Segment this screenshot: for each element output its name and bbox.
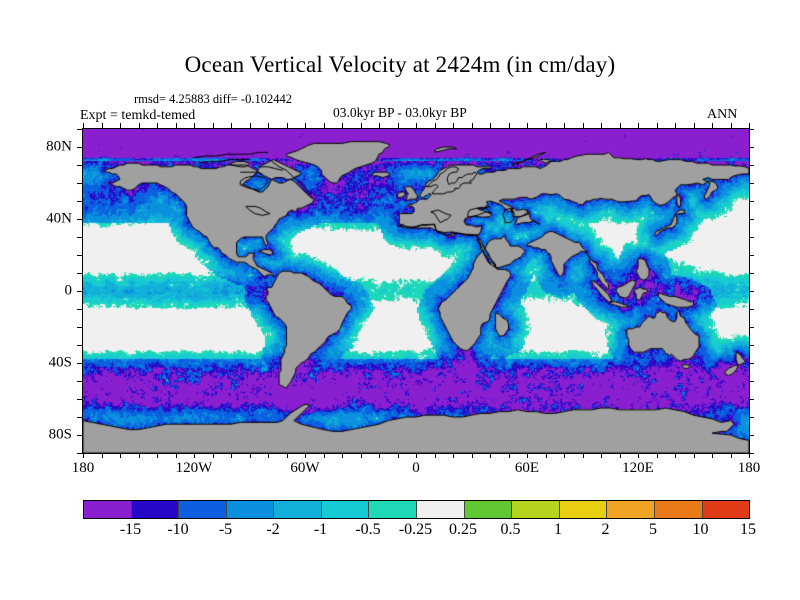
x-tick-top (527, 123, 528, 128)
x-tick (231, 453, 232, 458)
colorbar-label-5: -0.5 (355, 521, 380, 539)
rmsd-annotation: rmsd= 4.25883 diff= -0.102442 (134, 92, 292, 107)
x-tick (453, 453, 454, 458)
x-tick-top (453, 123, 454, 128)
x-tick (712, 453, 713, 458)
colorbar-band-0 (84, 501, 132, 518)
colorbar-band-6 (369, 501, 417, 518)
colorbar-band-13 (703, 501, 750, 518)
ocean-vertical-velocity-heatmap (83, 129, 749, 453)
x-tick (305, 453, 306, 458)
x-tick-top (583, 123, 584, 128)
x-tick-top (157, 123, 158, 128)
y-axis-label-2: 0 (20, 283, 72, 300)
x-tick (731, 453, 732, 458)
y-tick-right (749, 237, 754, 238)
colorbar-label-10: 2 (602, 521, 610, 539)
colorbar-label-2: -5 (219, 521, 232, 539)
x-tick (620, 453, 621, 458)
x-tick (694, 453, 695, 458)
x-tick-top (731, 123, 732, 128)
x-tick (361, 453, 362, 458)
x-tick-top (712, 123, 713, 128)
y-axis-label-4: 80S (20, 426, 72, 443)
x-tick-top (213, 123, 214, 128)
x-tick-top (490, 123, 491, 128)
y-tick-right (749, 381, 754, 382)
x-tick (268, 453, 269, 458)
y-tick (77, 309, 82, 310)
x-tick (120, 453, 121, 458)
season-annotation: ANN (707, 107, 737, 123)
x-tick-top (694, 123, 695, 128)
y-tick (77, 201, 82, 202)
colorbar-band-5 (322, 501, 370, 518)
y-tick (77, 453, 82, 454)
x-tick (157, 453, 158, 458)
y-tick-right (749, 345, 754, 346)
colorbar-label-7: 0.25 (449, 521, 477, 539)
x-tick (102, 453, 103, 458)
x-tick-top (139, 123, 140, 128)
y-tick (77, 381, 82, 382)
page-title: Ocean Vertical Velocity at 2424m (in cm/… (0, 52, 800, 78)
y-tick (77, 183, 82, 184)
x-tick (601, 453, 602, 458)
x-tick-top (435, 123, 436, 128)
x-tick-top (657, 123, 658, 128)
colorbar-label-0: -15 (120, 521, 141, 539)
y-axis-label-1: 40N (20, 210, 72, 227)
x-tick-top (546, 123, 547, 128)
colorbar-band-1 (132, 501, 180, 518)
y-tick-right (749, 201, 754, 202)
y-tick (77, 399, 82, 400)
colorbar-label-13: 15 (740, 521, 756, 539)
y-tick-right (749, 129, 754, 130)
x-tick (139, 453, 140, 458)
x-tick-top (231, 123, 232, 128)
x-tick-top (749, 123, 750, 128)
colorbar-band-4 (274, 501, 322, 518)
x-tick (194, 453, 195, 458)
y-tick (77, 237, 82, 238)
y-tick (77, 165, 82, 166)
colorbar-band-7 (417, 501, 465, 518)
y-tick-right (749, 327, 754, 328)
y-tick-right (749, 255, 754, 256)
x-axis-label-3: 0 (412, 460, 420, 477)
x-tick-top (638, 123, 639, 128)
y-tick-right (749, 183, 754, 184)
colorbar-label-8: 0.5 (501, 521, 521, 539)
x-tick (398, 453, 399, 458)
x-tick (176, 453, 177, 458)
map-plot-frame (82, 128, 750, 454)
y-tick-right (749, 435, 754, 436)
x-tick-top (194, 123, 195, 128)
x-axis-label-1: 120W (176, 460, 213, 477)
x-tick-top (102, 123, 103, 128)
y-tick-right (749, 273, 754, 274)
y-tick (77, 273, 82, 274)
x-tick (213, 453, 214, 458)
x-tick-top (83, 123, 84, 128)
x-tick-top (361, 123, 362, 128)
x-tick-top (379, 123, 380, 128)
x-tick-top (287, 123, 288, 128)
x-tick (379, 453, 380, 458)
colorbar-label-6: -0.25 (399, 521, 432, 539)
period-annotation: 03.0kyr BP - 03.0kyr BP (333, 105, 467, 121)
y-axis-label-0: 80N (20, 138, 72, 155)
x-tick-top (472, 123, 473, 128)
x-tick (657, 453, 658, 458)
colorbar-band-10 (560, 501, 608, 518)
colorbar-band-8 (465, 501, 513, 518)
x-tick-top (675, 123, 676, 128)
y-axis-label-3: 40S (20, 354, 72, 371)
x-tick-top (416, 123, 417, 128)
colorbar-label-3: -2 (266, 521, 279, 539)
x-tick-top (509, 123, 510, 128)
x-tick-top (324, 123, 325, 128)
x-tick (342, 453, 343, 458)
y-tick (77, 417, 82, 418)
colorbar-band-9 (512, 501, 560, 518)
y-tick-right (749, 219, 754, 220)
y-tick-right (749, 399, 754, 400)
x-tick (583, 453, 584, 458)
x-tick (416, 453, 417, 458)
x-axis-label-2: 60W (290, 460, 319, 477)
x-tick (564, 453, 565, 458)
colorbar-band-3 (227, 501, 275, 518)
y-tick (77, 147, 82, 148)
x-tick-top (120, 123, 121, 128)
x-tick (546, 453, 547, 458)
y-tick-right (749, 453, 754, 454)
x-tick-top (342, 123, 343, 128)
y-tick-right (749, 417, 754, 418)
x-tick (472, 453, 473, 458)
x-tick (675, 453, 676, 458)
colorbar-label-1: -10 (167, 521, 188, 539)
x-tick-top (268, 123, 269, 128)
x-tick-top (564, 123, 565, 128)
y-tick-right (749, 291, 754, 292)
y-tick (77, 129, 82, 130)
colorbar-band-11 (607, 501, 655, 518)
y-tick-right (749, 363, 754, 364)
x-tick-top (620, 123, 621, 128)
x-axis-label-4: 60E (515, 460, 539, 477)
colorbar-label-12: 10 (693, 521, 709, 539)
colorbar-label-11: 5 (649, 521, 657, 539)
x-tick-top (601, 123, 602, 128)
experiment-annotation: Expt = temkd-temed (80, 108, 195, 124)
y-tick-right (749, 147, 754, 148)
x-tick (509, 453, 510, 458)
x-tick (527, 453, 528, 458)
y-tick-right (749, 309, 754, 310)
x-tick (435, 453, 436, 458)
x-axis-label-6: 180 (738, 460, 761, 477)
colorbar-label-4: -1 (314, 521, 327, 539)
x-tick (250, 453, 251, 458)
y-tick (77, 345, 82, 346)
y-tick-right (749, 165, 754, 166)
x-tick (324, 453, 325, 458)
y-tick (77, 291, 82, 292)
x-tick-top (398, 123, 399, 128)
x-tick-top (250, 123, 251, 128)
colorbar (83, 500, 750, 519)
y-tick (77, 435, 82, 436)
y-tick (77, 255, 82, 256)
x-axis-label-5: 120E (622, 460, 654, 477)
colorbar-label-9: 1 (554, 521, 562, 539)
x-tick-top (305, 123, 306, 128)
x-tick (287, 453, 288, 458)
colorbar-band-12 (655, 501, 703, 518)
colorbar-band-2 (179, 501, 227, 518)
x-tick (490, 453, 491, 458)
x-axis-label-0: 180 (72, 460, 95, 477)
x-tick (83, 453, 84, 458)
y-tick (77, 327, 82, 328)
y-tick (77, 363, 82, 364)
x-tick-top (176, 123, 177, 128)
y-tick (77, 219, 82, 220)
x-tick (638, 453, 639, 458)
